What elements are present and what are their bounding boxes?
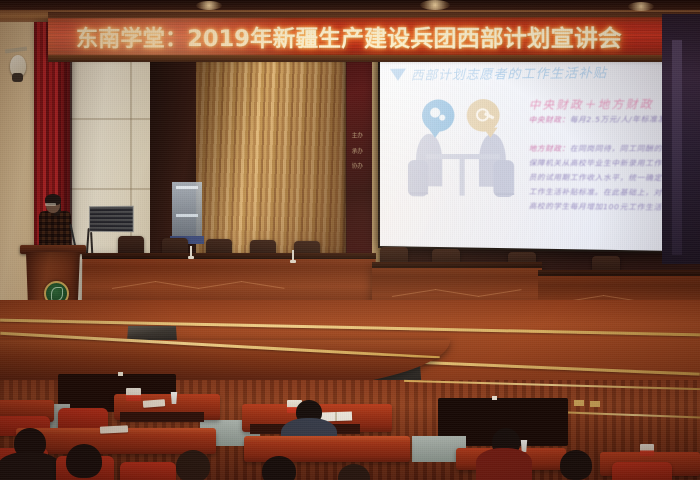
front-panel-gold-mark-1 [574,400,584,406]
audience-head-fg-3 [176,450,210,480]
speaker-body [39,211,71,249]
speaker-glasses-icon [45,203,56,206]
slide-title: 西部计划志愿者的工作生活补贴 [411,62,607,84]
led-banner-text: 东南学堂：2019年新疆生产建设兵团西部计划宣讲会 [76,20,622,53]
audience-head-fg-4 [262,456,296,480]
table-microphone-2 [292,250,294,260]
front-panel-indicator-light-2 [118,372,123,376]
audience-desk-top-row2-b [244,436,410,442]
audience-shoulders-right-1 [476,448,532,480]
ceiling-lamp-2 [420,0,450,10]
illustration-table-leg [460,159,465,196]
stage-table-lip-center [372,262,542,268]
auditorium-photo: 省2 主办 承办 协办 西部计划志愿者的工作生活补贴 中央财政＋地方财政 中央财… [0,0,700,480]
security-camera-lens-icon [12,73,23,82]
slide-line-0: 中央财政：每月2.5万元/人/年标准发补贴 [529,114,676,125]
illustration-bubble-key-tail [483,128,497,138]
audience-seat-fg-3 [120,462,176,480]
table-microphone-base-1 [188,256,194,259]
led-scrolling-banner: 东南学堂：2019年新疆生产建设兵团西部计划宣讲会 [48,17,700,57]
table-microphone-base-2 [290,260,296,263]
illustration-chair-right [493,160,514,197]
front-panel-gold-mark-2 [590,401,600,407]
triangle-down-icon [390,68,406,80]
slide-line-0-text: 每月2.5万元/人/年标准发补贴 [570,114,676,124]
audience-shoulders-fg-1 [0,452,60,480]
slide-line-4: 工作生活补贴标准。在此基础上，对"双一 [529,187,676,198]
name-card-row2-d [640,444,654,456]
illustration-chair-right-leg [496,193,515,195]
slide-line-1: 地方财政：在同岗同待，同工同酬的原则 [529,144,676,155]
projection-screen-frame: 西部计划志愿者的工作生活补贴 中央财政＋地方财政 中央财政：每月2.5万元/人/… [378,49,679,253]
ceiling-lamp-3 [628,2,654,11]
slide-line-1-label: 地方财政： [529,144,570,153]
sponsor-banner-rows: 主办 承办 协办 [352,128,363,174]
slide-title-row: 西部计划志愿者的工作生活补贴 [390,62,607,84]
sponsor-row-2: 协办 [352,159,363,174]
illustration-chair-left-leg [410,192,428,194]
wall-vent-grille [89,206,134,232]
equipment-cart [172,182,202,242]
projection-screen: 西部计划志愿者的工作生活补贴 中央财政＋地方财政 中央财政：每月2.5万元/人/… [380,51,676,251]
ceiling-lamp-1 [196,1,222,10]
equipment-cart-frame [176,186,198,189]
slide-line-2-text: 保障机关从高校毕业生中新录用工作人 [529,158,671,168]
illustration-chair-left [408,160,428,196]
book-spine-row1-c [335,412,337,421]
audience-seat-right [612,462,672,480]
slide-line-5-text: 高校的学生每月增加100元工作生活补贴 [529,201,676,212]
slide-heading: 中央财政＋地方财政 [529,95,654,113]
sponsor-row-1: 承办 [352,144,363,159]
slide-line-0-label: 中央财政： [529,115,570,124]
slide-line-3-text: 员的试用期工作收入水平，统一确定志愿 [529,173,676,183]
illustration-bubble-gears-tail [428,128,442,138]
paper-sheet-row2-a [100,425,128,433]
front-panel-indicator-light [492,396,497,400]
table-microphone-1 [190,246,192,256]
slide-line-2: 保障机关从高校毕业生中新录用工作人 [529,158,671,169]
slide-line-3: 员的试用期工作收入水平，统一确定志愿 [529,173,676,184]
stage-table-lip-right [538,270,700,276]
sponsor-row-0: 主办 [352,128,363,144]
banner-frame-bottom [48,55,700,62]
slide-line-5: 高校的学生每月增加100元工作生活补贴 [529,201,676,213]
audience-desk-shelf-row1-b [120,412,204,422]
right-wall-column [672,40,682,255]
gears-icon [430,108,440,118]
audience-head-fg-2 [66,444,102,478]
slide-line-1-text: 在同岗同待，同工同酬的原则 [570,144,676,153]
audience-head-right-2 [560,450,592,480]
name-card-row1-b [126,388,141,401]
stage-table-lip-left [82,253,376,259]
slide-line-4-text: 工作生活补贴标准。在此基础上，对"双一 [529,187,676,197]
equipment-cart-frame-2 [176,214,198,217]
